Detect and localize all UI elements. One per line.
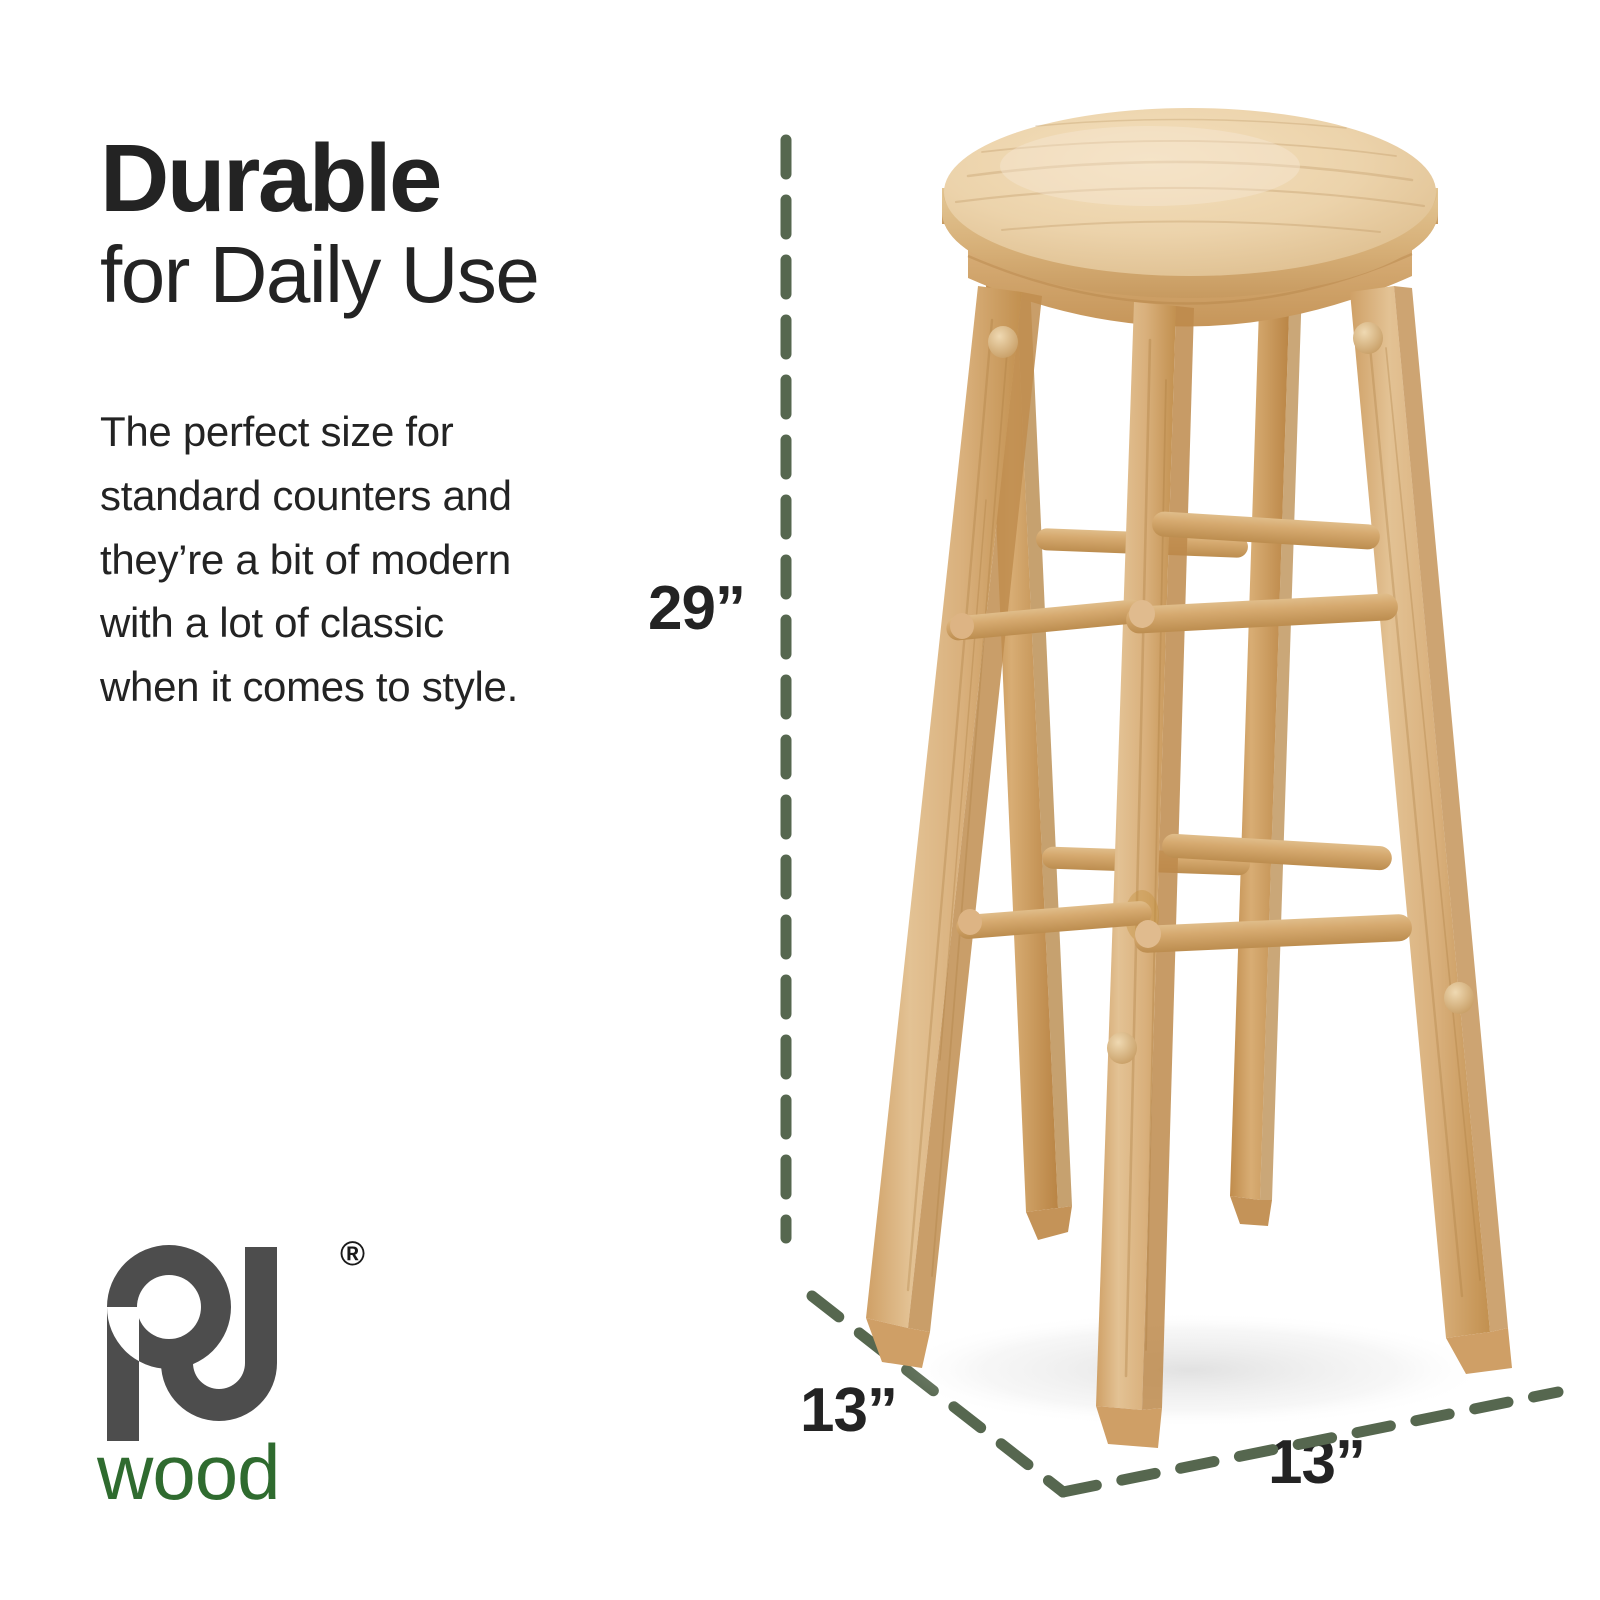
infographic-canvas: Durable for Daily Use The perfect size f… <box>0 0 1600 1600</box>
registered-trademark-icon: ® <box>340 1237 365 1271</box>
floor-shadow <box>890 1312 1490 1428</box>
logo-wordmark: wood <box>97 1433 279 1511</box>
pj-monogram-icon <box>95 1235 345 1450</box>
headline-primary: Durable <box>100 130 660 228</box>
body-paragraph: The perfect size for standard counters a… <box>100 400 540 719</box>
dimension-label-height: 29” <box>648 578 745 640</box>
headline-block: Durable for Daily Use <box>100 130 660 320</box>
product-image-bar-stool <box>790 80 1590 1500</box>
headline-secondary: for Daily Use <box>100 230 660 320</box>
dowel-plug <box>1444 982 1474 1014</box>
brand-logo: ® wood <box>95 1235 385 1525</box>
dowel-plug <box>1353 322 1383 354</box>
logo-mark-pj: ® <box>95 1235 345 1450</box>
dowel-plug <box>1107 1032 1137 1064</box>
dowel-plug <box>988 326 1018 358</box>
bar-stool-illustration <box>790 80 1590 1500</box>
